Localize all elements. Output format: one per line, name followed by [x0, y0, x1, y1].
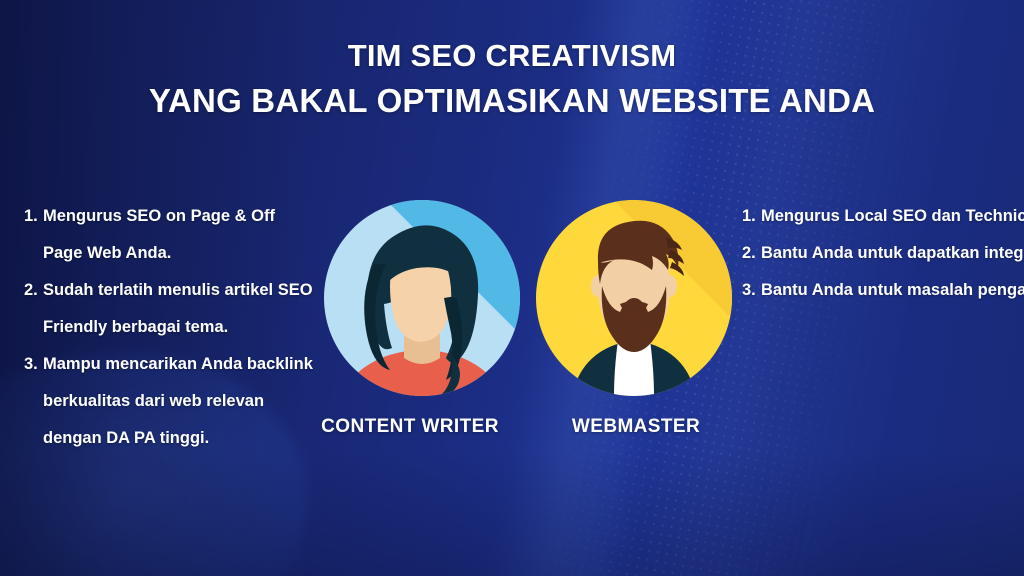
slide-canvas: TIM SEO CREATIVISM YANG BAKAL OPTIMASIKA…: [0, 0, 1024, 576]
list-item-label: Mampu mencarikan Anda backlink berkualit…: [43, 346, 314, 457]
avatar: [536, 200, 732, 396]
list-item: 2. Bantu Anda untuk dapatkan integrasi d…: [742, 235, 1024, 272]
team-member-content-writer: CONTENT WRITER: [324, 200, 520, 396]
female-avatar-icon: [324, 200, 520, 396]
page-title: TIM SEO CREATIVISM YANG BAKAL OPTIMASIKA…: [0, 34, 1024, 124]
team-member-webmaster: WEBMASTER: [536, 200, 732, 396]
list-item-number: 3.: [742, 272, 761, 309]
list-item-label: Mengurus SEO on Page & Off Page Web Anda…: [43, 198, 314, 272]
list-item-number: 1.: [742, 198, 761, 235]
content-writer-benefits-list: 1. Mengurus SEO on Page & Off Page Web A…: [24, 198, 314, 457]
page-title-line-1: TIM SEO CREATIVISM: [0, 34, 1024, 78]
page-title-line-2: YANG BAKAL OPTIMASIKAN WEBSITE ANDA: [0, 78, 1024, 124]
list-item-number: 3.: [24, 346, 43, 383]
list-item-number: 2.: [24, 272, 43, 309]
role-label: WEBMASTER: [538, 416, 734, 438]
list-item-label: Sudah terlatih menulis artikel SEO Frien…: [43, 272, 314, 346]
list-item-label: Bantu Anda untuk dapatkan integrasi deng…: [761, 235, 1024, 272]
list-item-number: 2.: [742, 235, 761, 272]
list-item: 3. Mampu mencarikan Anda backlink berkua…: [24, 346, 314, 457]
webmaster-benefits-list: 1. Mengurus Local SEO dan Technical SEO …: [742, 198, 1024, 309]
male-avatar-icon: [536, 200, 732, 396]
avatar: [324, 200, 520, 396]
list-item: 3. Bantu Anda untuk masalah pengaturan r…: [742, 272, 1024, 309]
list-item: 1. Mengurus Local SEO dan Technical SEO …: [742, 198, 1024, 235]
list-item-label: Bantu Anda untuk masalah pengaturan robo…: [761, 272, 1024, 309]
list-item: 2. Sudah terlatih menulis artikel SEO Fr…: [24, 272, 314, 346]
list-item: 1. Mengurus SEO on Page & Off Page Web A…: [24, 198, 314, 272]
list-item-label: Mengurus Local SEO dan Technical SEO Web…: [761, 198, 1024, 235]
role-label: CONTENT WRITER: [312, 416, 508, 438]
list-item-number: 1.: [24, 198, 43, 235]
